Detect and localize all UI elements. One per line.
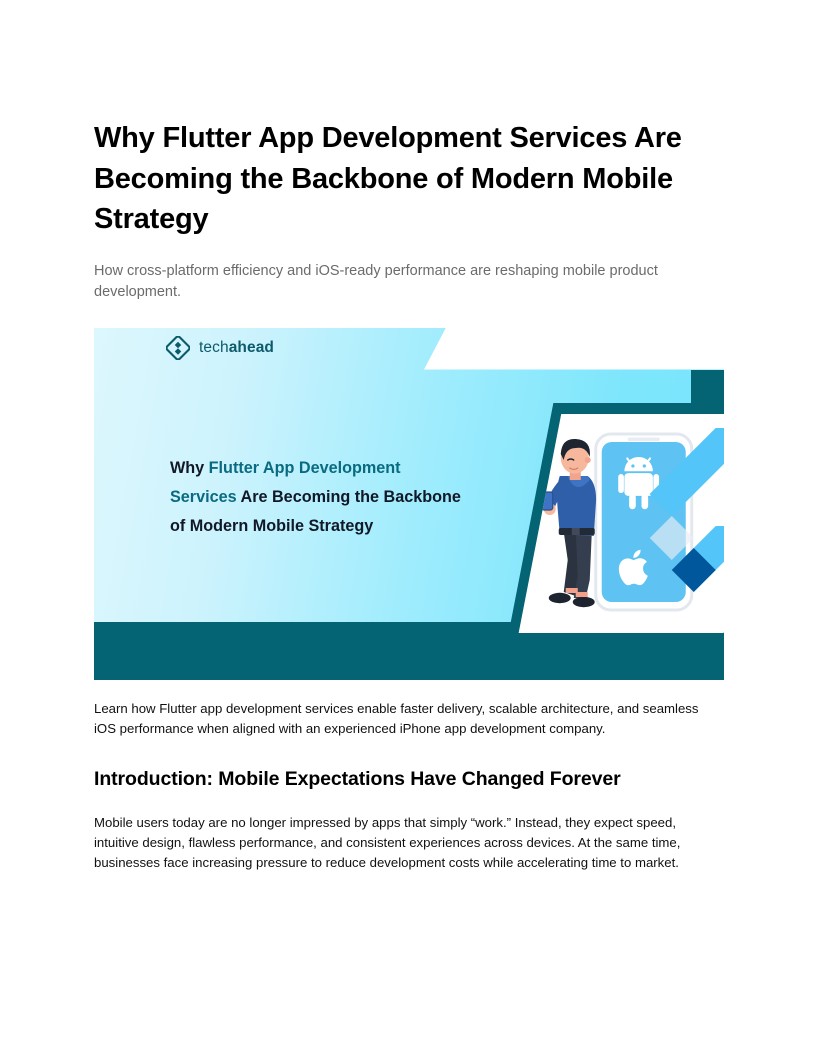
hero-illustration-card [518, 414, 724, 633]
document-content: Why Flutter App Development Services Are… [94, 118, 724, 873]
page-title: Why Flutter App Development Services Are… [94, 118, 724, 240]
hero-logo-strip [424, 328, 724, 370]
body-paragraph-1: Mobile users today are no longer impress… [94, 813, 724, 873]
document-page: Why Flutter App Development Services Are… [0, 0, 816, 1056]
person-with-phone-icon [542, 438, 596, 606]
brand-logo-text: techahead [199, 339, 274, 357]
hero-headline: Why Flutter App Development Services Are… [170, 454, 470, 541]
hero-banner: techahead Why Flutter App Development Se… [94, 328, 724, 680]
hero-illustration-frame [509, 403, 724, 633]
brand-name-bold: ahead [229, 339, 274, 356]
hero-headline-part-1: Why [170, 459, 209, 477]
brand-logo: techahead [166, 336, 274, 360]
page-subtitle: How cross-platform efficiency and iOS-re… [94, 261, 724, 303]
hero-illustration-inner [540, 414, 724, 633]
section-heading-introduction: Introduction: Mobile Expectations Have C… [94, 766, 724, 792]
hero-illustration-svg [524, 414, 724, 633]
brand-name-regular: tech [199, 339, 229, 356]
techahead-diamond-icon [166, 336, 190, 360]
lede-paragraph: Learn how Flutter app development servic… [94, 699, 724, 739]
